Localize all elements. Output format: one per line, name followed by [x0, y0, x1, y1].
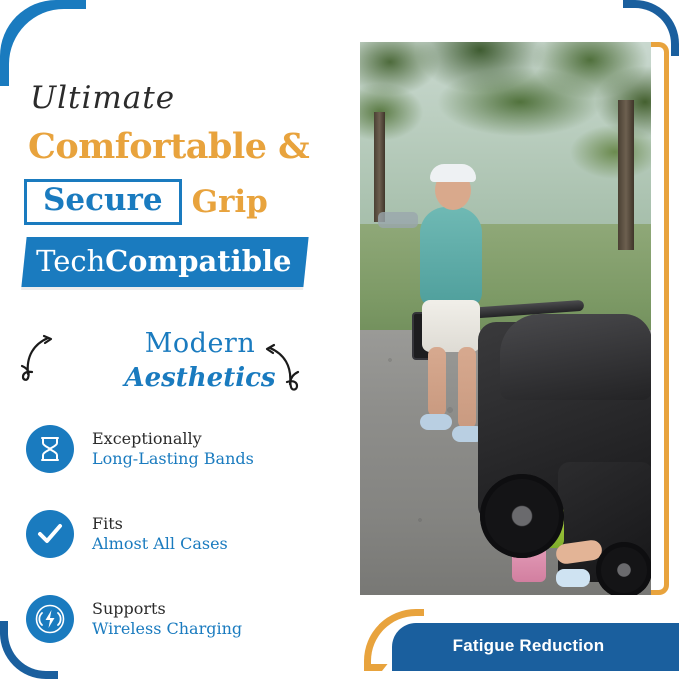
- photo-tree-trunk: [374, 112, 385, 222]
- hourglass-icon: [26, 425, 74, 473]
- photo-stroller-canopy: [500, 314, 651, 400]
- photo-child-sock: [556, 569, 590, 587]
- headline-line-secure-grip: Secure Grip: [24, 179, 354, 225]
- photo-background-car: [378, 212, 418, 228]
- feature-text: Exceptionally Long-Lasting Bands: [92, 429, 254, 469]
- photo-stroller-wheel: [596, 542, 651, 595]
- feature-text: Fits Almost All Cases: [92, 514, 228, 554]
- photo-person-cap: [430, 164, 476, 182]
- feature-text: Supports Wireless Charging: [92, 599, 242, 639]
- feature-subtitle: Almost All Cases: [92, 534, 228, 554]
- photo-person-leg: [458, 347, 476, 429]
- infographic-page: Ultimate Comfortable & Secure Grip Tech …: [0, 0, 679, 679]
- photo-foliage: [360, 42, 651, 296]
- photo-person-leg: [428, 347, 446, 417]
- feature-subtitle: Wireless Charging: [92, 619, 242, 639]
- photo-person-shoe: [420, 414, 452, 430]
- arrow-right-icon: [262, 342, 306, 398]
- feature-subtitle: Long-Lasting Bands: [92, 449, 254, 469]
- feature-item: Supports Wireless Charging: [26, 595, 346, 643]
- photo-stroller-wheel: [480, 474, 564, 558]
- checkmark-icon: [26, 510, 74, 558]
- headline-banner-tech-compatible: Tech Compatible: [21, 237, 308, 287]
- wireless-charging-icon: [26, 595, 74, 643]
- bottom-banner-label: Fatigue Reduction: [392, 636, 665, 656]
- feature-item: Fits Almost All Cases: [26, 510, 346, 558]
- product-lifestyle-photo: [360, 42, 651, 595]
- headline-chip-secure: Secure: [24, 179, 182, 225]
- feature-list: Exceptionally Long-Lasting Bands Fits Al…: [26, 425, 346, 679]
- headline-line-comfortable: Comfortable &: [28, 126, 354, 167]
- photo-tree-trunk: [618, 100, 634, 250]
- photo-person-shorts: [422, 300, 480, 352]
- headline-word-tech: Tech: [36, 244, 105, 278]
- photo-person-shirt: [420, 207, 482, 307]
- photo-accent-border: [651, 42, 669, 595]
- feature-title: Exceptionally: [92, 429, 254, 449]
- headline-word-compatible: Compatible: [105, 244, 291, 278]
- feature-item: Exceptionally Long-Lasting Bands: [26, 425, 346, 473]
- bottom-banner: Fatigue Reduction: [392, 623, 679, 671]
- feature-title: Supports: [92, 599, 242, 619]
- headline-line-ultimate: Ultimate: [30, 80, 354, 116]
- headline-word-grip: Grip: [192, 184, 268, 220]
- arrow-left-icon: [18, 334, 58, 388]
- headline-block: Ultimate Comfortable & Secure Grip Tech …: [24, 80, 354, 287]
- corner-decoration-top-left-inner: [0, 0, 74, 74]
- feature-title: Fits: [92, 514, 228, 534]
